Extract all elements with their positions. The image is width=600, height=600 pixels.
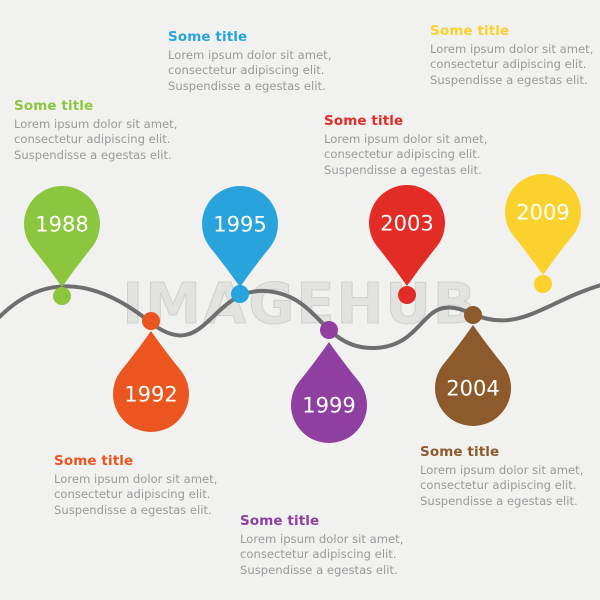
milestone-body-line-1: Lorem ipsum dolor sit amet, bbox=[168, 48, 344, 63]
milestone-body-line-1: Lorem ipsum dolor sit amet, bbox=[240, 532, 416, 547]
milestone-body-line-1: Lorem ipsum dolor sit amet, bbox=[54, 472, 230, 487]
infographic-canvas: IMAGEHUB 1988199219951999200320042009 So… bbox=[0, 0, 600, 600]
timeline-node-dot-2009[interactable] bbox=[534, 275, 552, 293]
milestone-body-line-3: Suspendisse a egestas elit. bbox=[324, 163, 500, 178]
milestone-text-block-1988: Some titleLorem ipsum dolor sit amet,con… bbox=[14, 98, 190, 163]
pin-year-label: 1995 bbox=[213, 213, 266, 237]
milestone-body-line-3: Suspendisse a egestas elit. bbox=[240, 563, 416, 578]
milestone-pin-1988[interactable]: 1988 bbox=[24, 186, 100, 287]
milestone-body-line-3: Suspendisse a egestas elit. bbox=[54, 503, 230, 518]
timeline-node-dot-2003[interactable] bbox=[398, 286, 416, 304]
milestone-pins-group: 1988199219951999200320042009 bbox=[24, 174, 581, 443]
milestone-pin-1999[interactable]: 1999 bbox=[291, 342, 367, 443]
pin-year-label: 1999 bbox=[302, 394, 355, 418]
milestone-body-line-2: consectetur adipiscing elit. bbox=[14, 132, 190, 147]
timeline-node-dot-1992[interactable] bbox=[142, 312, 160, 330]
milestone-body-line-1: Lorem ipsum dolor sit amet, bbox=[14, 117, 190, 132]
pin-year-label: 2009 bbox=[516, 201, 569, 225]
milestone-body-line-1: Lorem ipsum dolor sit amet, bbox=[324, 132, 500, 147]
milestone-body-line-2: consectetur adipiscing elit. bbox=[420, 478, 596, 493]
pin-teardrop-shape bbox=[113, 331, 189, 432]
pin-teardrop-shape bbox=[435, 325, 511, 426]
milestone-title: Some title bbox=[430, 23, 600, 40]
milestone-pin-1995[interactable]: 1995 bbox=[202, 186, 278, 287]
milestone-body-line-2: consectetur adipiscing elit. bbox=[168, 63, 344, 78]
milestone-pin-2009[interactable]: 2009 bbox=[505, 174, 581, 275]
milestone-title: Some title bbox=[54, 453, 230, 470]
timeline-node-dot-1988[interactable] bbox=[53, 287, 71, 305]
milestone-body-line-3: Suspendisse a egestas elit. bbox=[430, 73, 600, 88]
pin-teardrop-shape bbox=[291, 342, 367, 443]
milestone-body-line-2: consectetur adipiscing elit. bbox=[324, 147, 500, 162]
milestone-body-line-3: Suspendisse a egestas elit. bbox=[168, 79, 344, 94]
milestone-pin-2003[interactable]: 2003 bbox=[369, 185, 445, 286]
milestone-pin-1992[interactable]: 1992 bbox=[113, 331, 189, 432]
milestone-body-line-3: Suspendisse a egestas elit. bbox=[420, 494, 596, 509]
milestone-text-block-2003: Some titleLorem ipsum dolor sit amet,con… bbox=[324, 113, 500, 178]
milestone-body-line-1: Lorem ipsum dolor sit amet, bbox=[420, 463, 596, 478]
milestone-text-block-2009: Some titleLorem ipsum dolor sit amet,con… bbox=[430, 23, 600, 88]
milestone-text-block-1992: Some titleLorem ipsum dolor sit amet,con… bbox=[54, 453, 230, 518]
milestone-text-block-1995: Some titleLorem ipsum dolor sit amet,con… bbox=[168, 29, 344, 94]
milestone-text-block-2004: Some titleLorem ipsum dolor sit amet,con… bbox=[420, 444, 596, 509]
milestone-body-line-2: consectetur adipiscing elit. bbox=[430, 57, 600, 72]
timeline-wave-line bbox=[0, 283, 600, 348]
timeline-node-dot-1995[interactable] bbox=[231, 285, 249, 303]
pin-teardrop-shape bbox=[202, 186, 278, 287]
milestone-title: Some title bbox=[324, 113, 500, 130]
milestone-body-line-2: consectetur adipiscing elit. bbox=[240, 547, 416, 562]
pin-year-label: 2004 bbox=[446, 377, 499, 401]
pin-year-label: 1992 bbox=[124, 383, 177, 407]
milestone-body-line-2: consectetur adipiscing elit. bbox=[54, 487, 230, 502]
milestone-title: Some title bbox=[14, 98, 190, 115]
milestone-body-line-3: Suspendisse a egestas elit. bbox=[14, 148, 190, 163]
milestone-pin-2004[interactable]: 2004 bbox=[435, 325, 511, 426]
timeline-node-dot-2004[interactable] bbox=[464, 306, 482, 324]
pin-year-label: 2003 bbox=[380, 212, 433, 236]
pin-teardrop-shape bbox=[369, 185, 445, 286]
milestone-title: Some title bbox=[420, 444, 596, 461]
milestone-text-block-1999: Some titleLorem ipsum dolor sit amet,con… bbox=[240, 513, 416, 578]
milestone-body-line-1: Lorem ipsum dolor sit amet, bbox=[430, 42, 600, 57]
timeline-node-dot-1999[interactable] bbox=[320, 321, 338, 339]
pin-year-label: 1988 bbox=[35, 213, 88, 237]
milestone-title: Some title bbox=[168, 29, 344, 46]
pin-teardrop-shape bbox=[24, 186, 100, 287]
milestone-title: Some title bbox=[240, 513, 416, 530]
